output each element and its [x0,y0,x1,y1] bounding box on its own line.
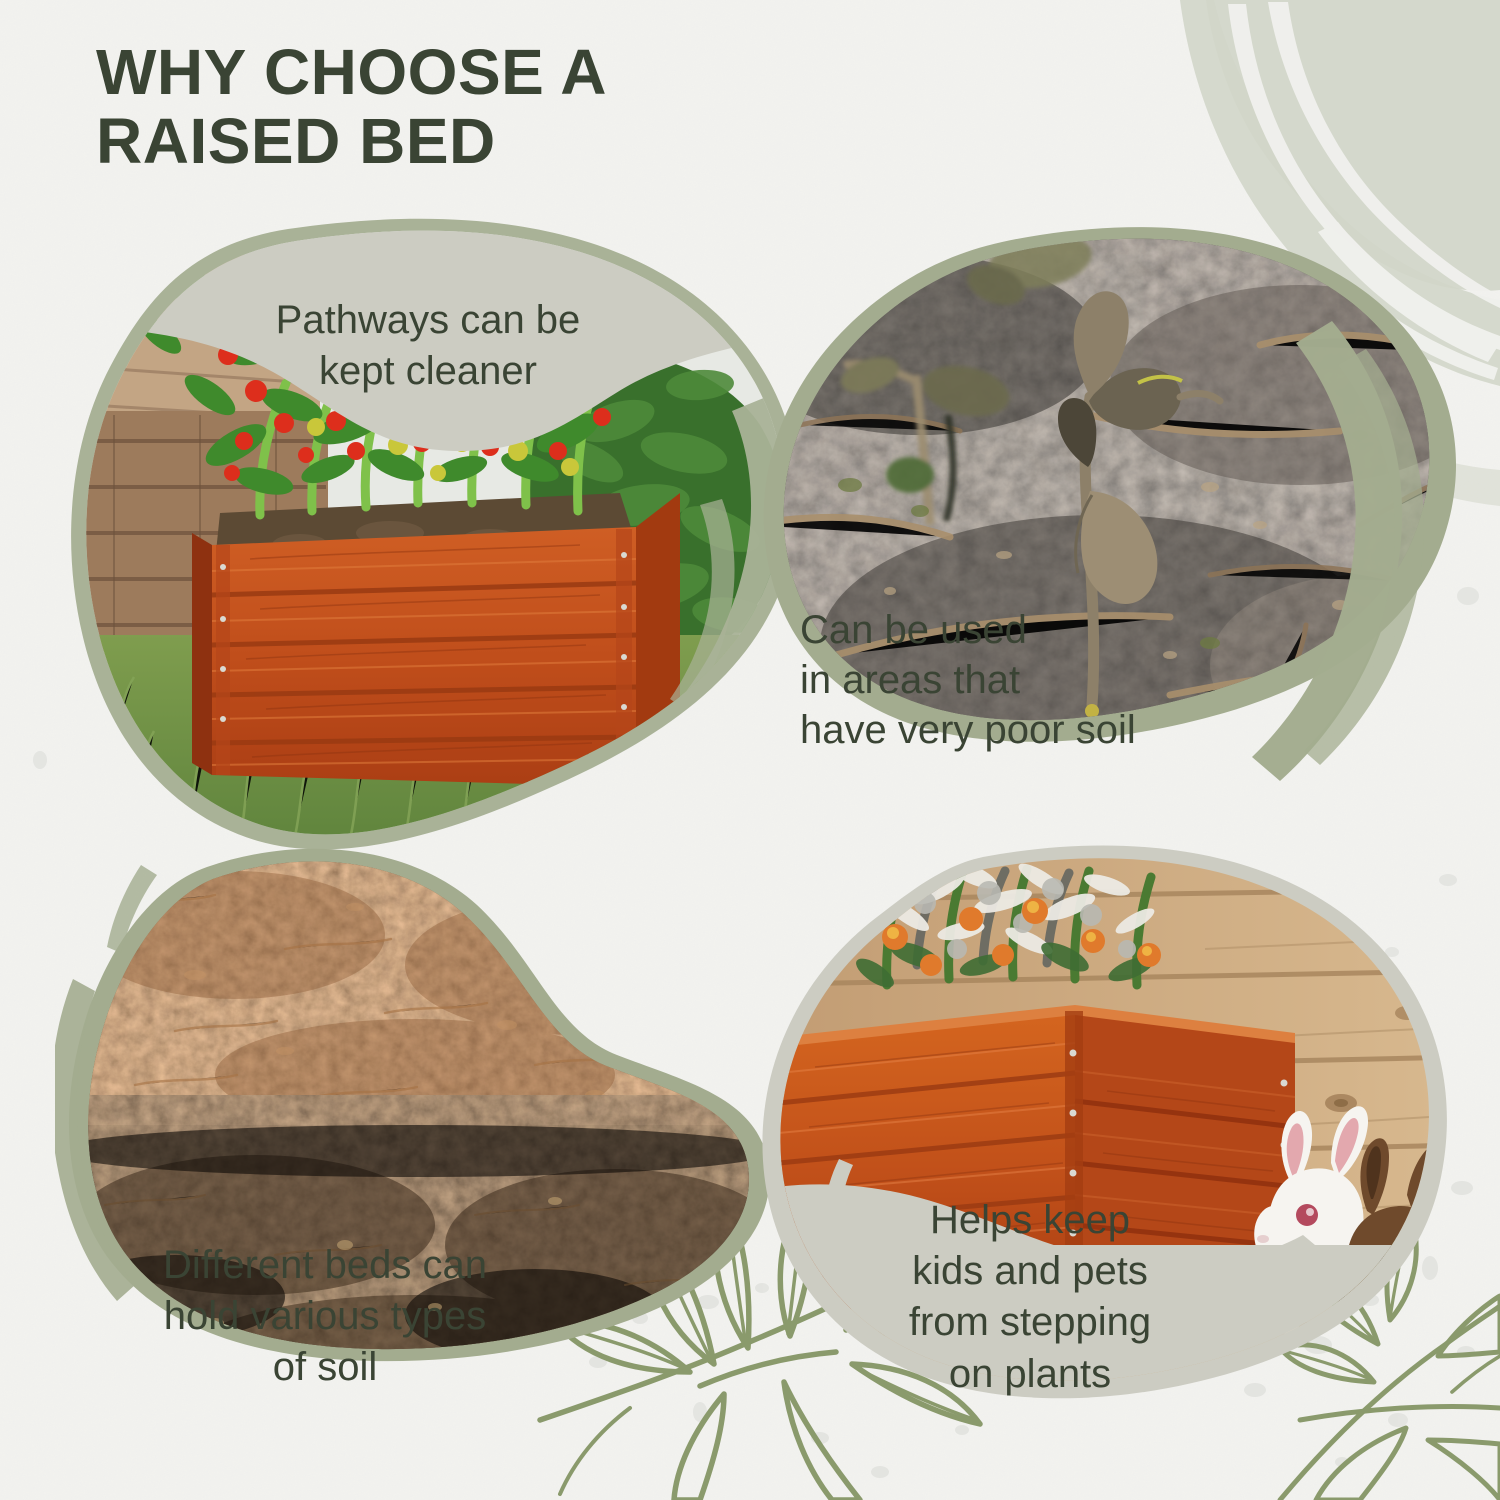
card-poor-soil-caption: Can be used in areas that have very poor… [800,605,1220,755]
card-soil-types-caption: Different beds can hold various types of… [110,1240,540,1392]
page-title: WHY CHOOSE A RAISED BED [96,38,607,176]
card-kids-pets-caption: Helps keep kids and pets from stepping o… [845,1195,1215,1400]
card-pathways-caption: Pathways can be kept cleaner [218,295,638,397]
